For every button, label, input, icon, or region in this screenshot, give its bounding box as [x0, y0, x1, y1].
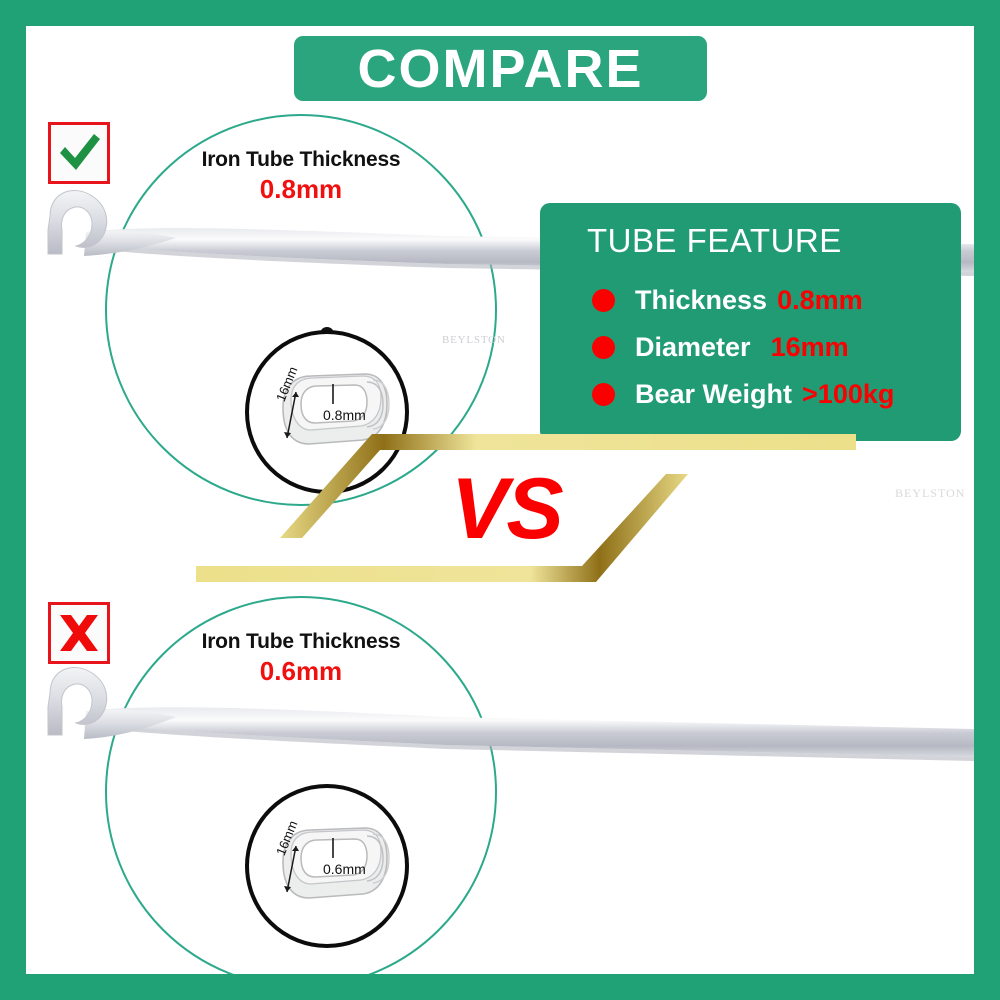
vs-label: VS	[451, 466, 562, 552]
tube-watermark: BEYLSTON	[442, 334, 506, 346]
feature-row: Diameter 16mm	[540, 324, 961, 371]
bullet-icon	[592, 289, 615, 312]
feature-row: Bear Weight >100kg	[540, 371, 961, 418]
brand-watermark: BEYLSTON	[895, 486, 965, 501]
feature-row: Thickness 0.8mm	[540, 277, 961, 324]
detail-thickness-label: 0.8mm	[323, 407, 366, 423]
tube-illustration-bad	[26, 584, 974, 974]
poster-frame: COMPARE	[0, 0, 1000, 1000]
feature-label: Thickness	[635, 285, 767, 316]
header-banner: COMPARE	[294, 36, 707, 101]
feature-box-good: TUBE FEATURE Thickness 0.8mm Diameter 16…	[540, 203, 961, 441]
feature-label: Bear Weight	[635, 379, 792, 410]
bullet-icon	[592, 383, 615, 406]
page-title: COMPARE	[357, 42, 643, 96]
feature-box-title: TUBE FEATURE	[540, 221, 961, 261]
feature-value: 16mm	[771, 332, 849, 363]
cross-section-detail-bad: 0.6mm 16mm	[245, 784, 409, 948]
feature-value: >100kg	[802, 379, 894, 410]
bullet-icon	[592, 336, 615, 359]
feature-value: 0.8mm	[777, 285, 863, 316]
cross-section-detail-good: 0.8mm 16mm	[245, 330, 409, 494]
feature-label: Diameter	[635, 332, 751, 363]
comparison-panel-bad: BEYLSTON Iron Tube Thickness 0.6mm 0	[26, 584, 974, 974]
poster-canvas: COMPARE	[26, 26, 974, 974]
comparison-panel-good: BEYLSTON Iron Tube Thickness 0.8mm	[26, 104, 974, 504]
feature-row-list: Thickness 0.8mm Diameter 16mm Bear Weigh…	[540, 277, 961, 418]
detail-thickness-label: 0.6mm	[323, 861, 366, 877]
